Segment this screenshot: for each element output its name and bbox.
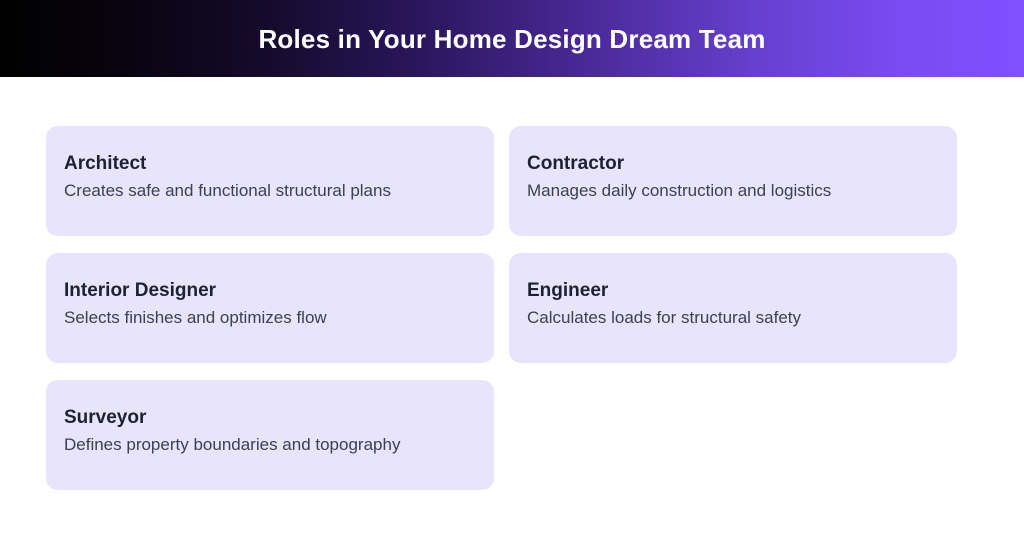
role-card-description: Selects finishes and optimizes flow (64, 307, 476, 329)
role-card-description: Manages daily construction and logistics (527, 180, 939, 202)
header-banner: Roles in Your Home Design Dream Team (0, 0, 1024, 77)
slide-root: Roles in Your Home Design Dream Team Arc… (0, 0, 1024, 534)
role-card-title: Surveyor (64, 406, 476, 430)
role-card-title: Architect (64, 152, 476, 176)
role-card-title: Engineer (527, 279, 939, 303)
role-card-description: Defines property boundaries and topograp… (64, 434, 476, 456)
role-card-contractor[interactable]: Contractor Manages daily construction an… (509, 126, 957, 236)
role-card-surveyor[interactable]: Surveyor Defines property boundaries and… (46, 380, 494, 490)
role-card-title: Contractor (527, 152, 939, 176)
page-title: Roles in Your Home Design Dream Team (258, 26, 765, 52)
role-card-title: Interior Designer (64, 279, 476, 303)
roles-card-grid: Architect Creates safe and functional st… (46, 126, 957, 490)
role-card-description: Calculates loads for structural safety (527, 307, 939, 329)
role-card-architect[interactable]: Architect Creates safe and functional st… (46, 126, 494, 236)
role-card-description: Creates safe and functional structural p… (64, 180, 476, 202)
role-card-interior-designer[interactable]: Interior Designer Selects finishes and o… (46, 253, 494, 363)
role-card-engineer[interactable]: Engineer Calculates loads for structural… (509, 253, 957, 363)
